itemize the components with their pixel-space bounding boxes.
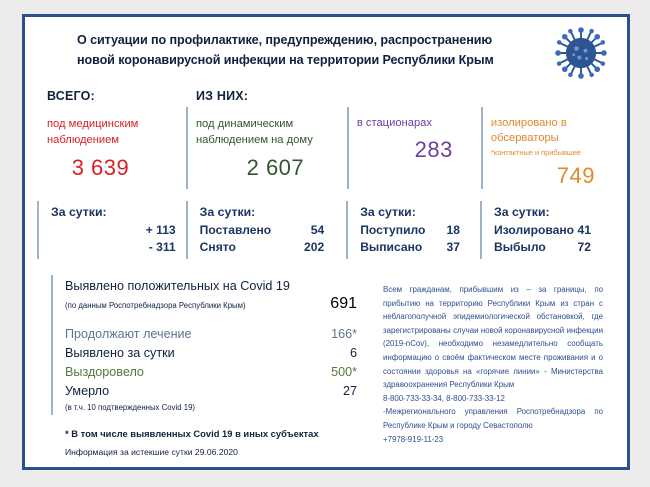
- daily-row-item: Выбыло 72: [494, 239, 603, 256]
- bottom-section: Выявлено положительных на Covid 19 (по д…: [25, 269, 627, 429]
- daily-title: За сутки:: [494, 205, 603, 219]
- column-divider: [186, 201, 188, 259]
- stat-label: в стационарах: [357, 116, 471, 132]
- block-divider: [51, 275, 53, 415]
- covid-row-value: 27: [305, 382, 363, 401]
- column-divider: [186, 107, 188, 189]
- info-phone-ministry: 8-800-733-33-34, 8-800-733-33-12: [383, 392, 603, 406]
- daily-row-item: Изолировано 41: [494, 222, 603, 239]
- covid-source-row: (по данным Роспотребнадзора Республики К…: [65, 295, 363, 313]
- column-divider: [480, 201, 482, 259]
- stat-label-line-1: изолировано в: [491, 116, 603, 132]
- covid-row-value: 166*: [305, 325, 363, 344]
- stat-value-hospitals: 283: [357, 137, 471, 163]
- daily-label: Выписано: [360, 239, 432, 256]
- eyebrow-of-which: ИЗ НИХ:: [196, 89, 337, 103]
- stat-label-line-2: наблюдением: [47, 133, 176, 149]
- daily-label: Снято: [200, 239, 297, 256]
- stat-column-observatories: изолировано в обсерваторы *контактные и …: [481, 89, 613, 197]
- spacer: [491, 89, 603, 116]
- daily-row-item: Поступило 18: [360, 222, 470, 239]
- column-divider: [481, 107, 483, 189]
- top-statistics-row: ВСЕГО: под медицинским наблюдением 3 639…: [25, 89, 627, 197]
- info-paragraph-2: -Межрегионального управления Роспотребна…: [383, 405, 603, 432]
- eyebrow-total: ВСЕГО:: [47, 89, 176, 103]
- covid-row-detected-today: Выявлено за сутки 6: [65, 344, 363, 363]
- column-divider: [346, 201, 348, 259]
- stat-column-home-observation: ИЗ НИХ: под динамическим наблюдением на …: [186, 89, 347, 197]
- column-divider: [37, 201, 39, 259]
- covid-details-block: Выявлено положительных на Covid 19 (по д…: [51, 275, 369, 429]
- stat-value-observatories: 749: [491, 163, 603, 189]
- daily-label: Изолировано: [494, 222, 574, 239]
- spacer: [65, 313, 363, 325]
- covid-row-value: 500*: [305, 363, 363, 382]
- stat-label-line-1: под динамическим: [196, 117, 337, 133]
- daily-title: За сутки:: [51, 205, 176, 219]
- daily-column-hospitals: За сутки: Поступило 18 Выписано 37: [346, 197, 480, 269]
- daily-row-item: Поставлено 54: [200, 222, 337, 239]
- daily-title: За сутки:: [360, 205, 470, 219]
- info-phone-rospotrebnadzor: +7978-919-11-23: [383, 433, 603, 447]
- poster-header: О ситуации по профилактике, предупрежден…: [25, 17, 627, 89]
- daily-value: 72: [567, 239, 603, 256]
- info-paragraph-1: Всем гражданам, прибывшим из – за границ…: [383, 283, 603, 392]
- footer-date-note: Информация за истекшие сутки 29.06.2020: [65, 447, 238, 457]
- spacer: [357, 89, 471, 116]
- daily-value: 54: [296, 222, 336, 239]
- covid-row-died: Умерло 27: [65, 382, 363, 401]
- daily-statistics-row: За сутки: + 113 - 311 За сутки: Поставле…: [25, 197, 627, 269]
- stat-value-home-observation: 2 607: [196, 155, 337, 181]
- covid-row-value: 6: [305, 344, 363, 363]
- daily-value: 202: [296, 239, 336, 256]
- daily-row-item: Выписано 37: [360, 239, 470, 256]
- daily-value: - 311: [120, 239, 176, 256]
- daily-column-home-observation: За сутки: Поставлено 54 Снято 202: [186, 197, 347, 269]
- daily-value: + 113: [120, 222, 176, 239]
- daily-row-item: Снято 202: [200, 239, 337, 256]
- stat-column-medical-observation: ВСЕГО: под медицинским наблюдением 3 639: [37, 89, 186, 197]
- daily-value: 41: [574, 222, 603, 239]
- daily-title: За сутки:: [200, 205, 337, 219]
- stat-label-line-1: в стационарах: [357, 116, 471, 132]
- stat-label-line-2: наблюдением на дому: [196, 133, 337, 149]
- stat-value-medical-observation: 3 639: [47, 155, 176, 181]
- covid-row-label: Выявлено за сутки: [65, 344, 305, 363]
- daily-row-item: - 311: [51, 239, 176, 256]
- page-title: О ситуации по профилактике, предупрежден…: [77, 31, 557, 70]
- information-text-block: Всем гражданам, прибывшим из – за границ…: [369, 275, 613, 429]
- covid-row-label: Продолжают лечение: [65, 325, 305, 344]
- daily-value: 37: [432, 239, 470, 256]
- covid-footnote: * В том числе выявленных Covid 19 в иных…: [65, 428, 363, 439]
- infographic-poster: О ситуации по профилактике, предупрежден…: [22, 14, 630, 470]
- title-line-1: О ситуации по профилактике, предупрежден…: [77, 31, 557, 51]
- daily-label: Выбыло: [494, 239, 567, 256]
- stat-sub-note: *контактные и прибывшие: [491, 148, 603, 157]
- stat-label: изолировано в обсерваторы: [491, 116, 603, 148]
- stat-label-line-2: обсерваторы: [491, 131, 603, 147]
- daily-column-medical-observation: За сутки: + 113 - 311: [37, 197, 186, 269]
- covid-headline: Выявлено положительных на Covid 19: [65, 279, 363, 293]
- covid-died-note: (в т.ч. 10 подтвержденных Covid 19): [65, 403, 363, 412]
- covid-row-label: Выздоровело: [65, 363, 305, 382]
- daily-label: Поставлено: [200, 222, 297, 239]
- daily-row-item: + 113: [51, 222, 176, 239]
- daily-label: Поступило: [360, 222, 432, 239]
- stat-label-line-1: под медицинским: [47, 117, 176, 133]
- covid-row-recovered: Выздоровело 500*: [65, 363, 363, 382]
- covid-source-value: 691: [305, 295, 363, 313]
- daily-value: 18: [432, 222, 470, 239]
- stat-column-hospitals: в стационарах 283: [347, 89, 481, 197]
- stat-label: под динамическим наблюдением на дому: [196, 117, 337, 149]
- coronavirus-icon: [553, 25, 609, 81]
- covid-source-note: (по данным Роспотребнадзора Республики К…: [65, 301, 305, 310]
- covid-row-label: Умерло: [65, 382, 305, 401]
- covid-row-continuing-treatment: Продолжают лечение 166*: [65, 325, 363, 344]
- title-line-2: новой коронавирусной инфекции на террито…: [77, 51, 557, 71]
- column-divider: [347, 107, 349, 189]
- daily-column-observatories: За сутки: Изолировано 41 Выбыло 72: [480, 197, 613, 269]
- stat-label: под медицинским наблюдением: [47, 117, 176, 149]
